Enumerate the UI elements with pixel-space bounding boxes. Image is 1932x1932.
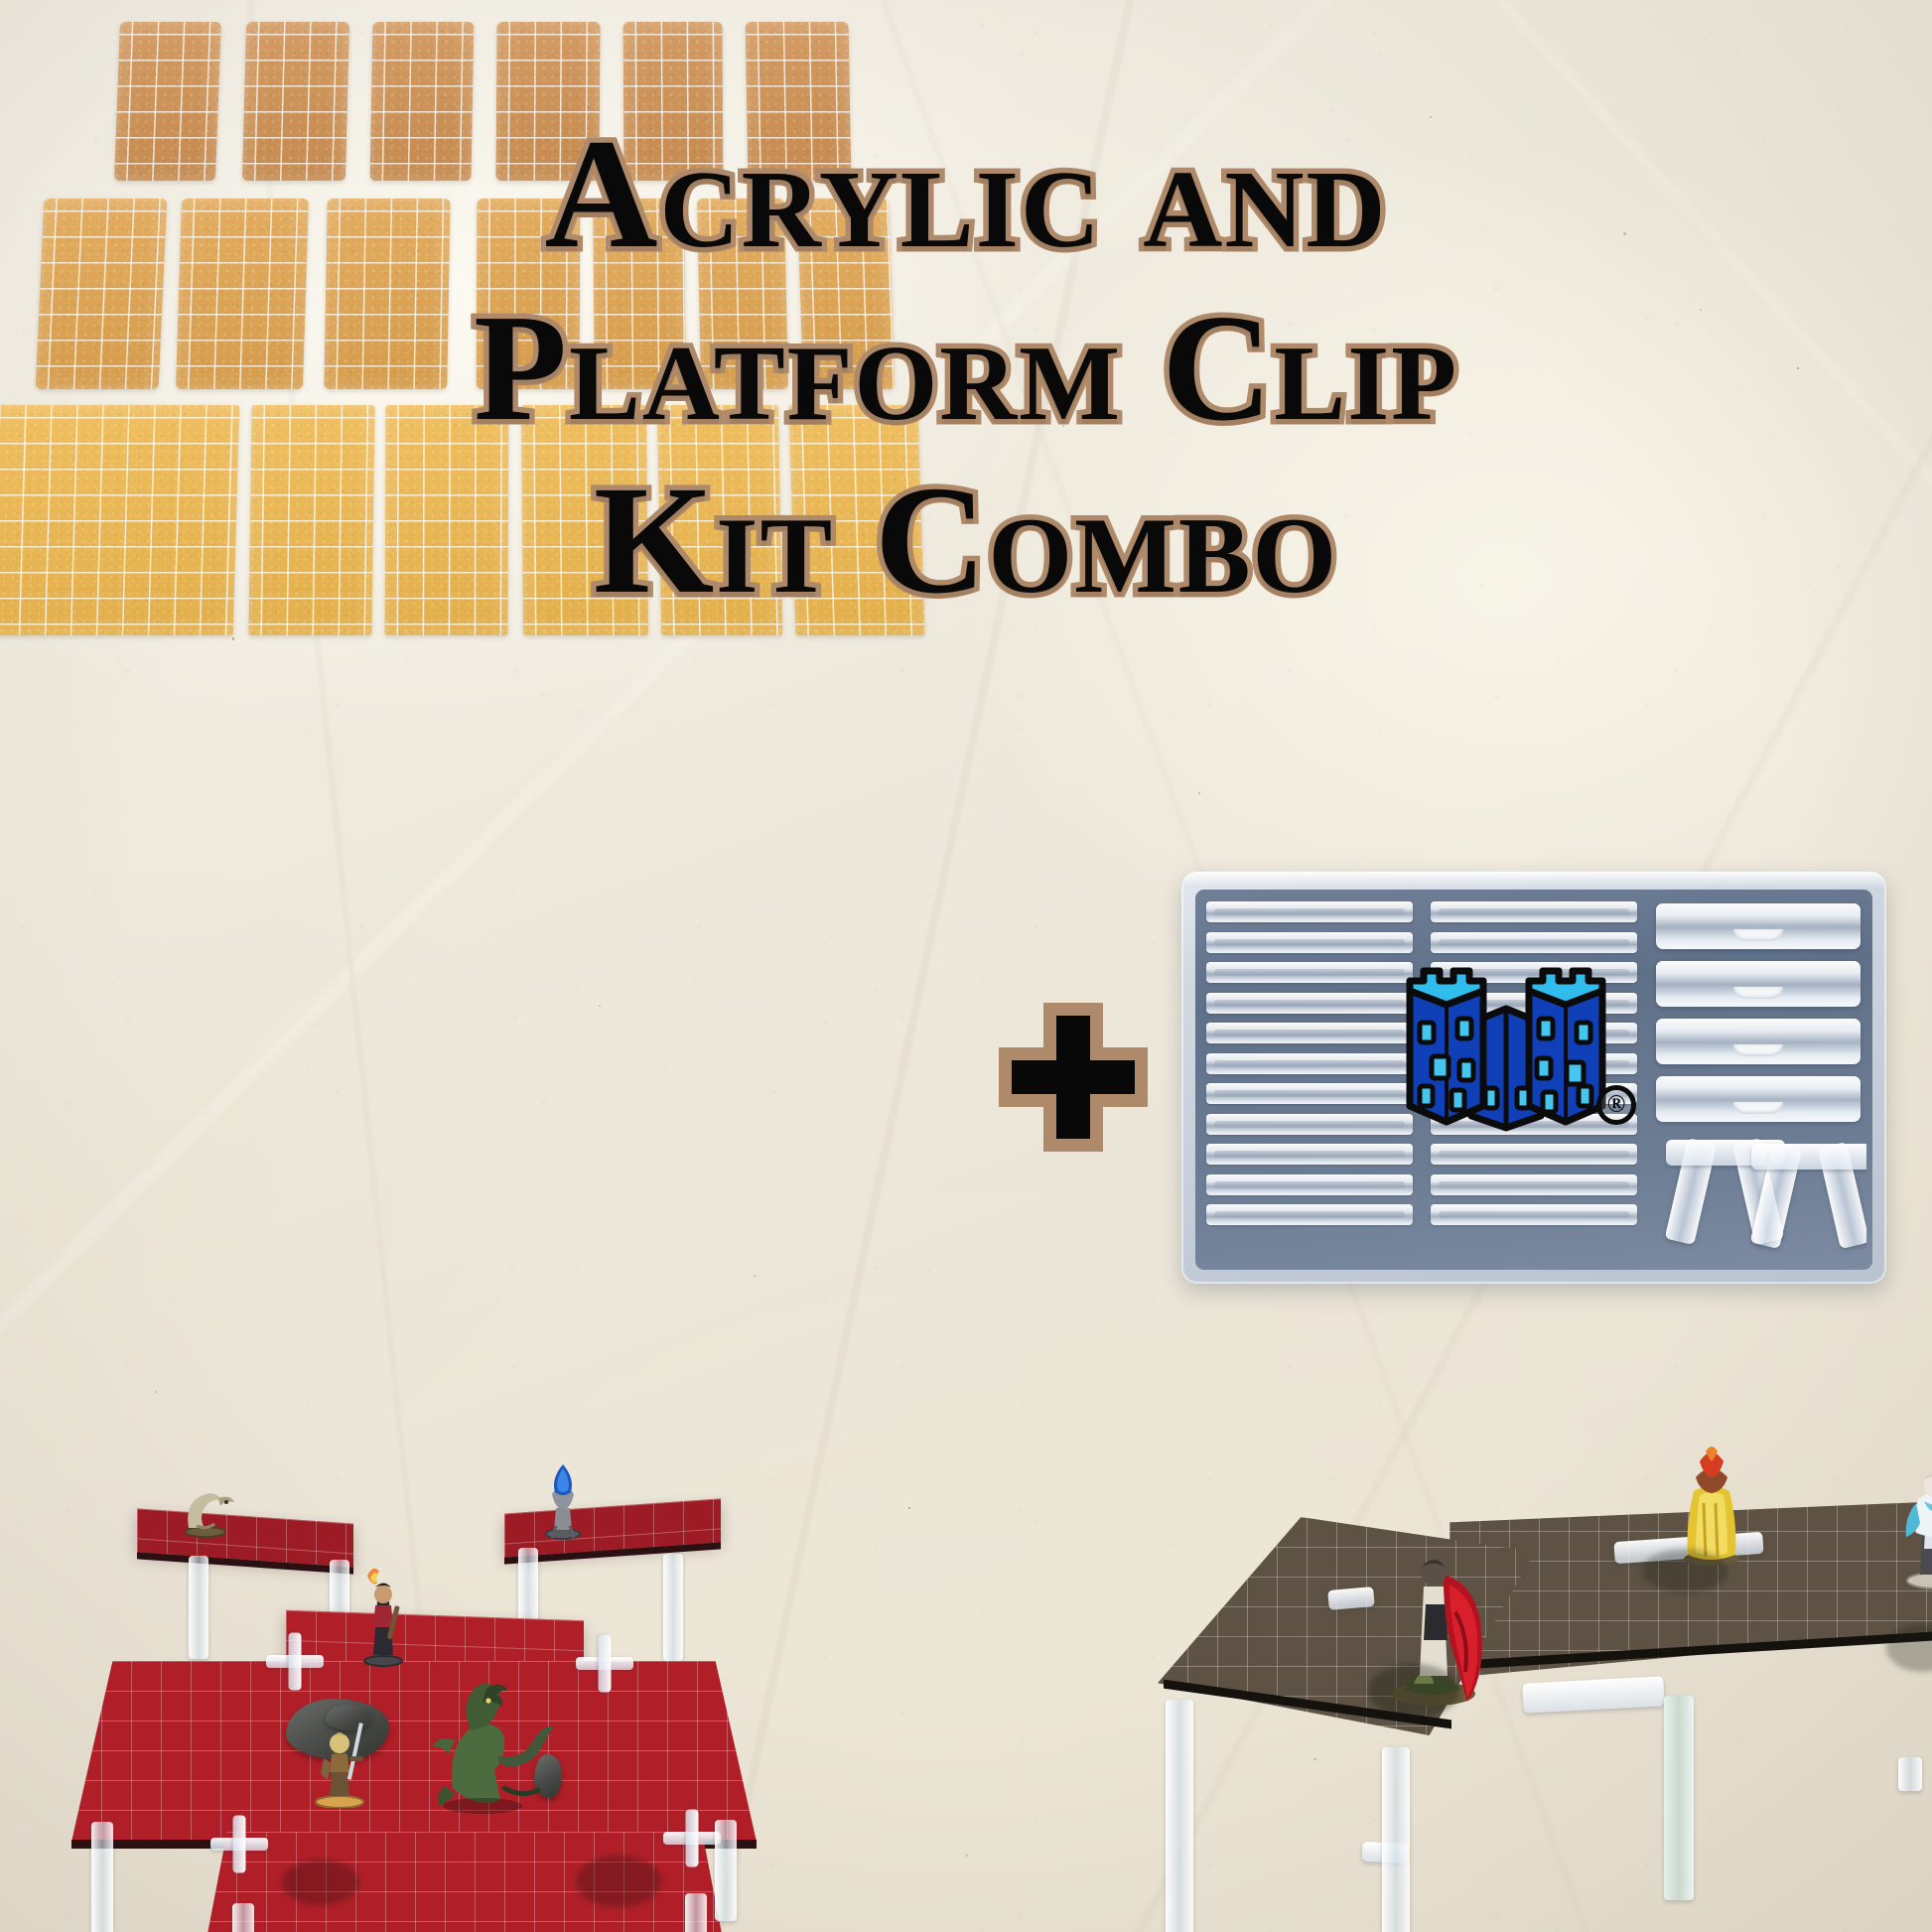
- miniature-fire-mage: [353, 1558, 413, 1667]
- stacked-clip: [1206, 932, 1413, 953]
- corner-clip: [576, 1643, 633, 1683]
- corner-clip: [210, 1824, 268, 1863]
- case-lid-edge: [1181, 872, 1886, 888]
- support-leg: [1166, 1700, 1193, 1932]
- miniature-pale-cloaked-figure: [1894, 1451, 1932, 1590]
- platform-clip: [1327, 1587, 1375, 1610]
- support-leg: [663, 1554, 683, 1661]
- stacked-clip: [1431, 932, 1637, 953]
- corner-clip: [266, 1641, 324, 1681]
- stacked-clip: [1431, 901, 1637, 922]
- stacked-clip: [1206, 1114, 1413, 1135]
- stacked-clip: [1206, 1174, 1413, 1195]
- support-leg: [715, 1820, 737, 1921]
- scene-red-platforms: [60, 1445, 814, 1932]
- corner-clip: [663, 1818, 721, 1858]
- mini-reflection: [1368, 1664, 1459, 1718]
- stacked-clip: [1206, 1204, 1413, 1225]
- stacked-clip: [1206, 993, 1413, 1014]
- stacked-clip: [1431, 1144, 1637, 1165]
- miniature-warrior: [304, 1711, 375, 1808]
- support-leg: [91, 1822, 113, 1932]
- left-compartment: [1201, 896, 1418, 1264]
- stacked-clip: [1206, 1023, 1413, 1043]
- wide-clip: [1656, 961, 1861, 1007]
- plus-horizontal-core: [1012, 1060, 1135, 1094]
- support-leg: [1382, 1747, 1410, 1932]
- title-line-3: Kit Combo: [0, 454, 1932, 627]
- scene-smoked-platforms: [1122, 1430, 1932, 1932]
- support-leg-short: [1898, 1757, 1922, 1791]
- support-leg: [189, 1556, 208, 1659]
- mini-reflection: [1642, 1549, 1727, 1592]
- registered-trademark-icon: ®: [1596, 1085, 1636, 1125]
- stacked-clip: [1206, 1083, 1413, 1104]
- title-line-1: Acrylic and: [0, 107, 1932, 283]
- miniature-serpent: [167, 1472, 244, 1538]
- stacked-clip: [1206, 962, 1413, 983]
- mini-shadow: [576, 1856, 661, 1907]
- wide-clip: [1656, 1019, 1861, 1064]
- stacked-clip: [1431, 1174, 1637, 1195]
- miniature-blue-crystal-creature: [532, 1460, 594, 1540]
- stacked-clip: [1206, 1144, 1413, 1165]
- wide-clip: [1656, 903, 1861, 949]
- support-leg: [232, 1903, 254, 1932]
- stacked-clip: [1206, 1053, 1413, 1074]
- miniature-dragon: [409, 1671, 558, 1818]
- support-leg: [685, 1893, 707, 1932]
- mini-shadow: [282, 1860, 359, 1905]
- platform-clip-kit-case: ®: [1181, 872, 1886, 1284]
- x-clip: [1745, 1144, 1866, 1247]
- platform-clip-joint: [1522, 1676, 1664, 1713]
- plus-symbol: [999, 1003, 1148, 1152]
- stacked-clip: [1431, 1204, 1637, 1225]
- stacked-clip: [1206, 901, 1413, 922]
- poster-canvas: Acrylic and Platform Clip Kit Combo: [0, 0, 1932, 1932]
- title-line-2: Platform Clip: [0, 283, 1932, 454]
- poster-title: Acrylic and Platform Clip Kit Combo: [0, 107, 1932, 627]
- wide-clip: [1656, 1076, 1861, 1122]
- support-leg-green: [1664, 1696, 1694, 1900]
- castle-logo: [1402, 957, 1610, 1136]
- right-compartment: [1650, 896, 1866, 1264]
